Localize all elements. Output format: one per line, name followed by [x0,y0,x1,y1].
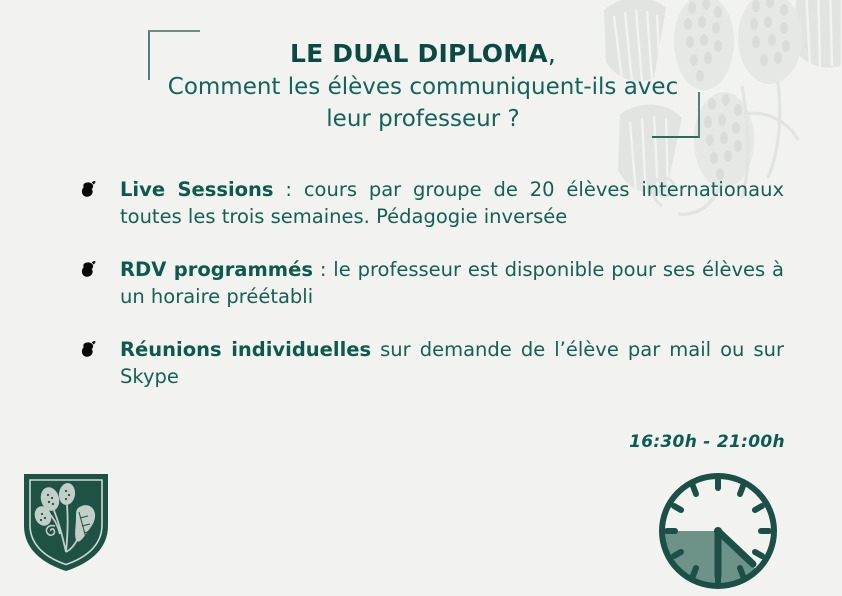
subtitle-line-1: Comment les élèves communiquent-ils avec [150,72,696,102]
list-item: Live Sessions : cours par groupe de 20 é… [78,176,784,230]
list-item-lead: Live Sessions [120,178,274,201]
list-item: Réunions individuelles sur demande de l’… [78,336,784,390]
list-item-lead: Réunions individuelles [120,338,371,361]
title-line: LE DUAL DIPLOMA, [150,38,696,70]
title-bold: LE DUAL DIPLOMA [290,39,548,68]
list-item-text: RDV programmés : le professeur est dispo… [104,256,784,310]
clock-icon [655,470,781,592]
list-item-text: Réunions individuelles sur demande de l’… [104,336,784,390]
title-comma: , [548,39,556,68]
bullet-list: Live Sessions : cours par groupe de 20 é… [78,176,784,416]
list-item-text: Live Sessions : cours par groupe de 20 é… [104,176,784,230]
acorn-icon [78,340,104,364]
schedule-time-range: 16:30h - 21:00h [612,432,802,452]
subtitle-line-2: leur professeur ? [150,104,696,134]
page-title: LE DUAL DIPLOMA, Comment les élèves comm… [150,38,696,134]
list-item: RDV programmés : le professeur est dispo… [78,256,784,310]
acorn-icon [78,260,104,284]
shield-crest-logo [20,468,112,574]
list-item-lead: RDV programmés [120,258,313,281]
acorn-icon [78,180,104,204]
